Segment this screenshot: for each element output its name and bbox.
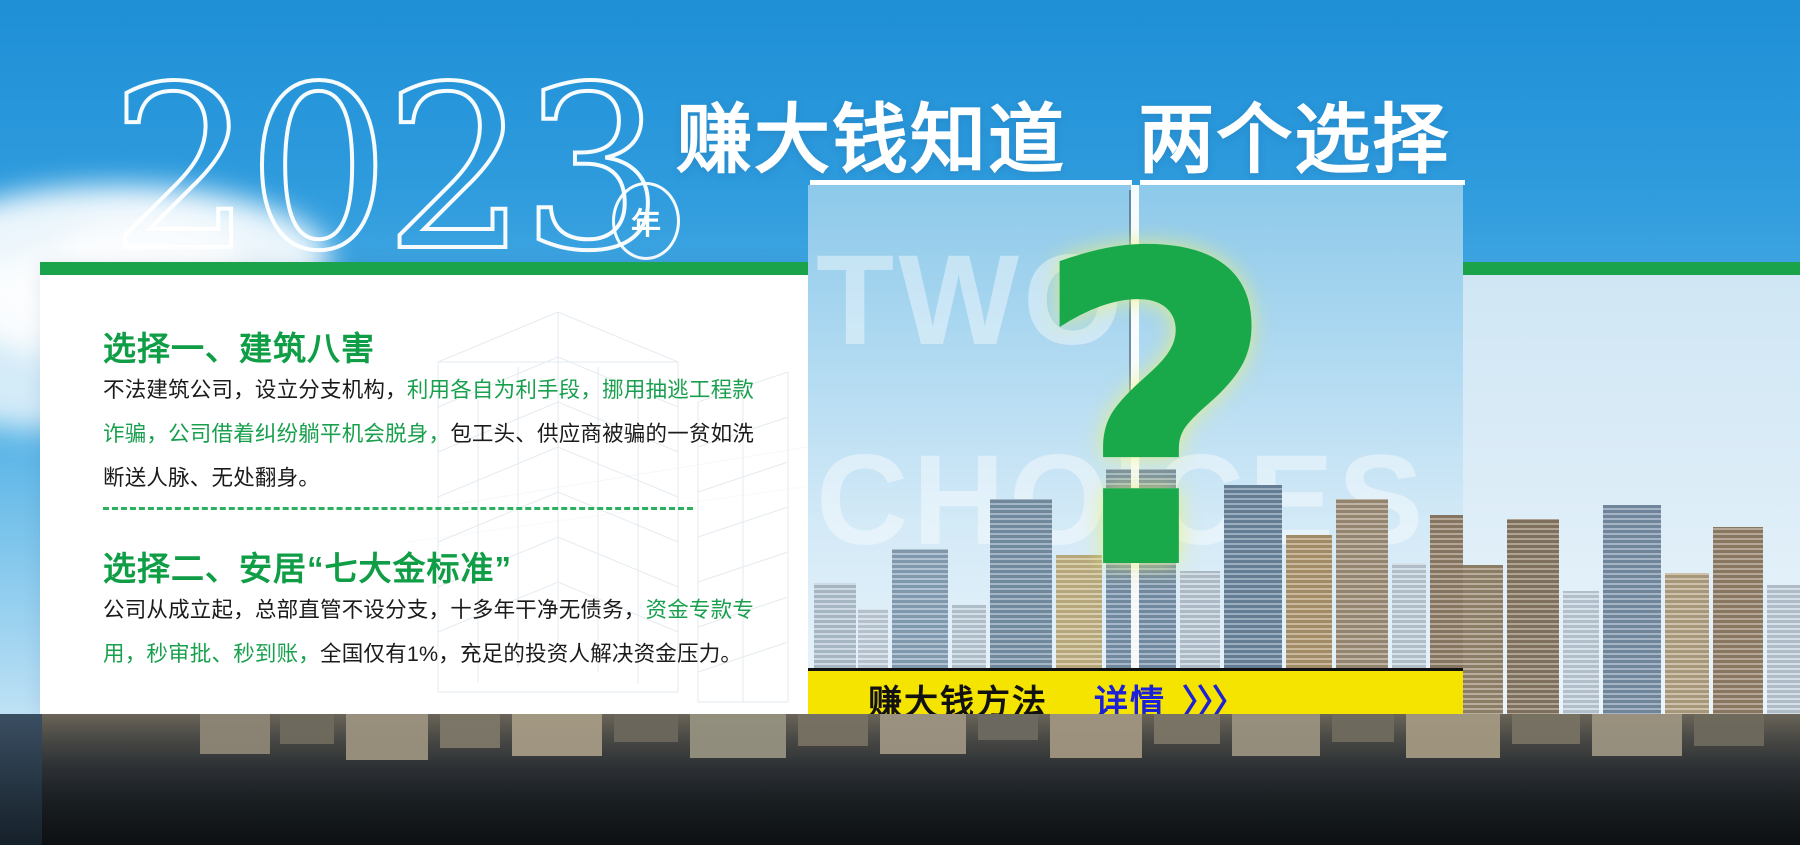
skyline-building (1665, 573, 1709, 715)
band-building (690, 714, 786, 758)
band-building (798, 714, 868, 746)
right-skyline (1463, 480, 1800, 715)
year-unit-badge: 年 (612, 182, 680, 260)
band-building (1232, 714, 1320, 756)
band-building (440, 714, 500, 748)
section-1-line-2: 诈骗，公司借着纠纷躺平机会脱身，包工头、供应商被骗的一贫如洗 (103, 424, 754, 446)
section-divider (103, 507, 693, 510)
section-2-line-1-black: 公司从成立起，总部直管不设分支，十多年干净无债务， (103, 598, 646, 622)
section-1-line-3: 断送人脉、无处翻身。 (103, 468, 320, 490)
band-building (1406, 714, 1500, 758)
band-building (1592, 714, 1682, 756)
skyline-building (952, 605, 986, 675)
band-building (1332, 714, 1394, 742)
skyline-building (1603, 505, 1661, 715)
skyline-building (1430, 515, 1463, 675)
right-edge-panel (1463, 265, 1800, 715)
band-building (978, 714, 1038, 740)
section-2-line-2: 用，秒审批、秒到账，全国仅有1%，充足的投资人解决资金压力。 (103, 644, 742, 666)
band-building (1154, 714, 1220, 744)
info-card: 选择一、建筑八害 不法建筑公司，设立分支机构，利用各自为利手段，挪用抽逃工程款 … (40, 262, 808, 714)
band-building (512, 714, 602, 756)
right-accent-bar (1463, 262, 1800, 275)
skyline-building (1336, 499, 1388, 675)
band-building (614, 714, 678, 742)
skyline-building (814, 583, 856, 675)
section-1-line-2-green: 诈骗，公司借着纠纷躺平机会脱身， (103, 422, 450, 446)
card-accent-bar (40, 262, 808, 275)
section-2-line-2-green: 用，秒审批、秒到账， (103, 642, 320, 666)
section-2-line-2-black: 全国仅有1%，充足的投资人解决资金压力。 (320, 642, 742, 666)
section-1-title: 选择一、建筑八害 (103, 322, 375, 370)
section-1-line-1: 不法建筑公司，设立分支机构，利用各自为利手段，挪用抽逃工程款 (103, 380, 754, 402)
band-building (1050, 714, 1142, 758)
skyline-building (892, 549, 948, 675)
headline-part-1: 赚大钱知道 (676, 98, 1066, 183)
section-2-title: 选择二、安居“七大金标准” (103, 542, 512, 590)
skyline-building (1507, 519, 1559, 715)
band-left-edge (0, 714, 42, 845)
band-building (200, 714, 270, 754)
band-building (1512, 714, 1580, 744)
skyline-building (1563, 591, 1599, 715)
band-building (280, 714, 334, 744)
section-2-line-1-green: 资金专款专 (646, 598, 755, 622)
band-building (880, 714, 966, 754)
section-1-line-2-black: 包工头、供应商被骗的一贫如洗 (450, 422, 754, 446)
promotional-banner: 2023 年 赚大钱知道 两个选择 (0, 0, 1800, 845)
skyline-building (1463, 565, 1503, 715)
water-reflection (0, 773, 1800, 845)
section-1-line-1-green: 利用各自为利手段，挪用抽逃工程款 (407, 378, 754, 402)
skyline-building (1767, 585, 1800, 715)
skyline-building (1713, 527, 1763, 715)
question-mark-graphic: ? (1030, 200, 1279, 630)
band-building (1694, 714, 1764, 746)
skyline-building (1392, 563, 1426, 675)
skyline-building (1286, 535, 1332, 675)
waterfront-band (0, 714, 1800, 845)
band-building (346, 714, 428, 760)
section-2-line-1: 公司从成立起，总部直管不设分支，十多年干净无债务，资金专款专 (103, 600, 754, 622)
skyline-building (858, 609, 888, 675)
section-1-line-1-black: 不法建筑公司，设立分支机构， (103, 378, 407, 402)
